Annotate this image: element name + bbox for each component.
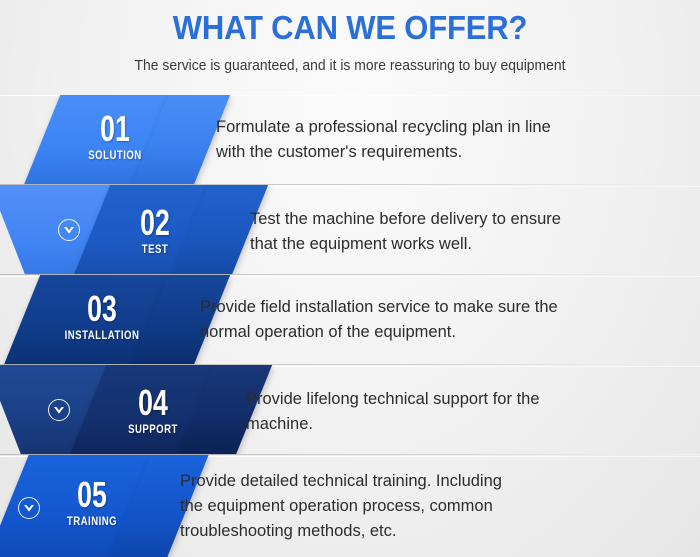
step-5-description: Provide detailed technical training. Inc… xyxy=(180,469,690,544)
step-row-2[interactable]: 02 TEST Test the machine before delivery… xyxy=(0,185,700,275)
infographic-page: WHAT CAN WE OFFER? The service is guaran… xyxy=(0,0,700,557)
step-1-description: Formulate a professional recycling plan … xyxy=(216,115,686,165)
step-row-4[interactable]: 04 SUPPORT Provide lifelong technical su… xyxy=(0,365,700,455)
step-4-number: 04 xyxy=(112,387,193,419)
step-row-1[interactable]: 01 SOLUTION Formulate a professional rec… xyxy=(0,95,700,185)
page-subtitle: The service is guaranteed, and it is mor… xyxy=(14,47,686,74)
chevron-down-circle-icon xyxy=(18,497,40,519)
step-1-badge: 01 SOLUTION xyxy=(60,113,170,162)
step-4-badge: 04 SUPPORT xyxy=(98,387,208,436)
step-2-label: TEST xyxy=(111,239,199,256)
chevron-down-circle-icon xyxy=(58,219,80,241)
step-2-description: Test the machine before delivery to ensu… xyxy=(250,207,690,257)
step-3-badge: 03 INSTALLATION xyxy=(42,293,162,342)
step-4-label: SUPPORT xyxy=(109,419,197,436)
step-2-number: 02 xyxy=(114,207,195,239)
step-1-number: 01 xyxy=(74,113,155,145)
chevron-down-circle-icon xyxy=(48,399,70,421)
step-3-description: Provide field installation service to ma… xyxy=(200,295,690,345)
step-3-number: 03 xyxy=(58,293,147,325)
header: WHAT CAN WE OFFER? The service is guaran… xyxy=(0,0,700,95)
step-row-3[interactable]: 03 INSTALLATION Provide field installati… xyxy=(0,275,700,365)
step-row-5[interactable]: 05 TRAINING Provide detailed technical t… xyxy=(0,455,700,557)
step-2-badge: 02 TEST xyxy=(100,207,210,256)
step-4-description: Provide lifelong technical support for t… xyxy=(246,387,690,437)
step-3-label: INSTALLATION xyxy=(54,325,150,342)
step-5-number: 05 xyxy=(55,479,129,511)
step-1-label: SOLUTION xyxy=(71,145,159,162)
step-5-label: TRAINING xyxy=(52,511,132,528)
step-5-badge: 05 TRAINING xyxy=(42,479,142,528)
page-title: WHAT CAN WE OFFER? xyxy=(21,0,679,47)
